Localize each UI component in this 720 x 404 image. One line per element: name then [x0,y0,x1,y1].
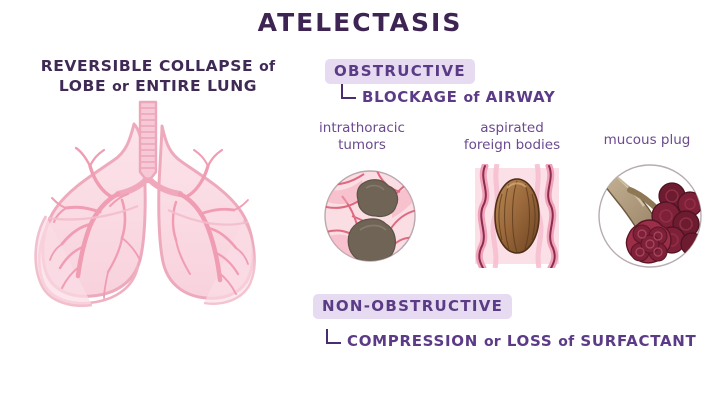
obstructive-detail-of: of [464,90,480,106]
left-caption-entire-lung: ENTIRE LUNG [135,77,257,95]
obstructive-heading: OBSTRUCTIVE [325,59,475,84]
caption-mucous-plug: mucous plug [586,132,708,149]
left-caption-line1: REVERSIBLE COLLAPSE [41,57,253,75]
caption-tumors-line1: intrathoracic [319,120,405,136]
obstructive-detail: BLOCKAGE of AIRWAY [362,88,555,106]
obstructive-detail-blockage: BLOCKAGE [362,88,458,106]
diagram-canvas: ATELECTASIS REVERSIBLE COLLAPSE of LOBE … [0,0,720,404]
non-obstructive-detail: COMPRESSION or LOSS of SURFACTANT [347,332,696,350]
non-obstructive-detail-compression: COMPRESSION [347,332,478,350]
lung-tumors-circle-illustration [322,166,418,266]
non-obstructive-detail-surfactant: SURFACTANT [580,332,696,350]
left-caption-or: or [112,79,129,95]
obstructive-detail-airway: AIRWAY [486,88,556,106]
non-obstructive-detail-loss: LOSS [507,332,553,350]
left-caption-of: of [259,59,275,75]
left-caption-lobe: LOBE [59,77,106,95]
caption-foreign-line2: foreign bodies [464,137,560,153]
mucous-plug-alveoli-illustration [596,160,704,272]
page-title: ATELECTASIS [0,8,720,37]
l-bracket-icon-non-obstructive [326,329,341,344]
non-obstructive-detail-or: or [484,334,501,350]
caption-aspirated-foreign-bodies: aspirated foreign bodies [446,120,578,154]
lungs-anatomy-illustration [22,96,290,308]
left-caption: REVERSIBLE COLLAPSE of LOBE or ENTIRE LU… [18,56,298,96]
aspirated-seed-airway-illustration [467,164,567,268]
l-bracket-icon-obstructive [341,84,356,99]
non-obstructive-detail-of: of [558,334,574,350]
caption-foreign-line1: aspirated [480,120,544,136]
aspirated-seed [495,179,539,253]
caption-mucous-line1: mucous plug [604,132,691,148]
non-obstructive-heading: NON-OBSTRUCTIVE [313,294,512,319]
caption-tumors-line2: tumors [338,137,386,153]
caption-intrathoracic-tumors: intrathoracic tumors [306,120,418,154]
